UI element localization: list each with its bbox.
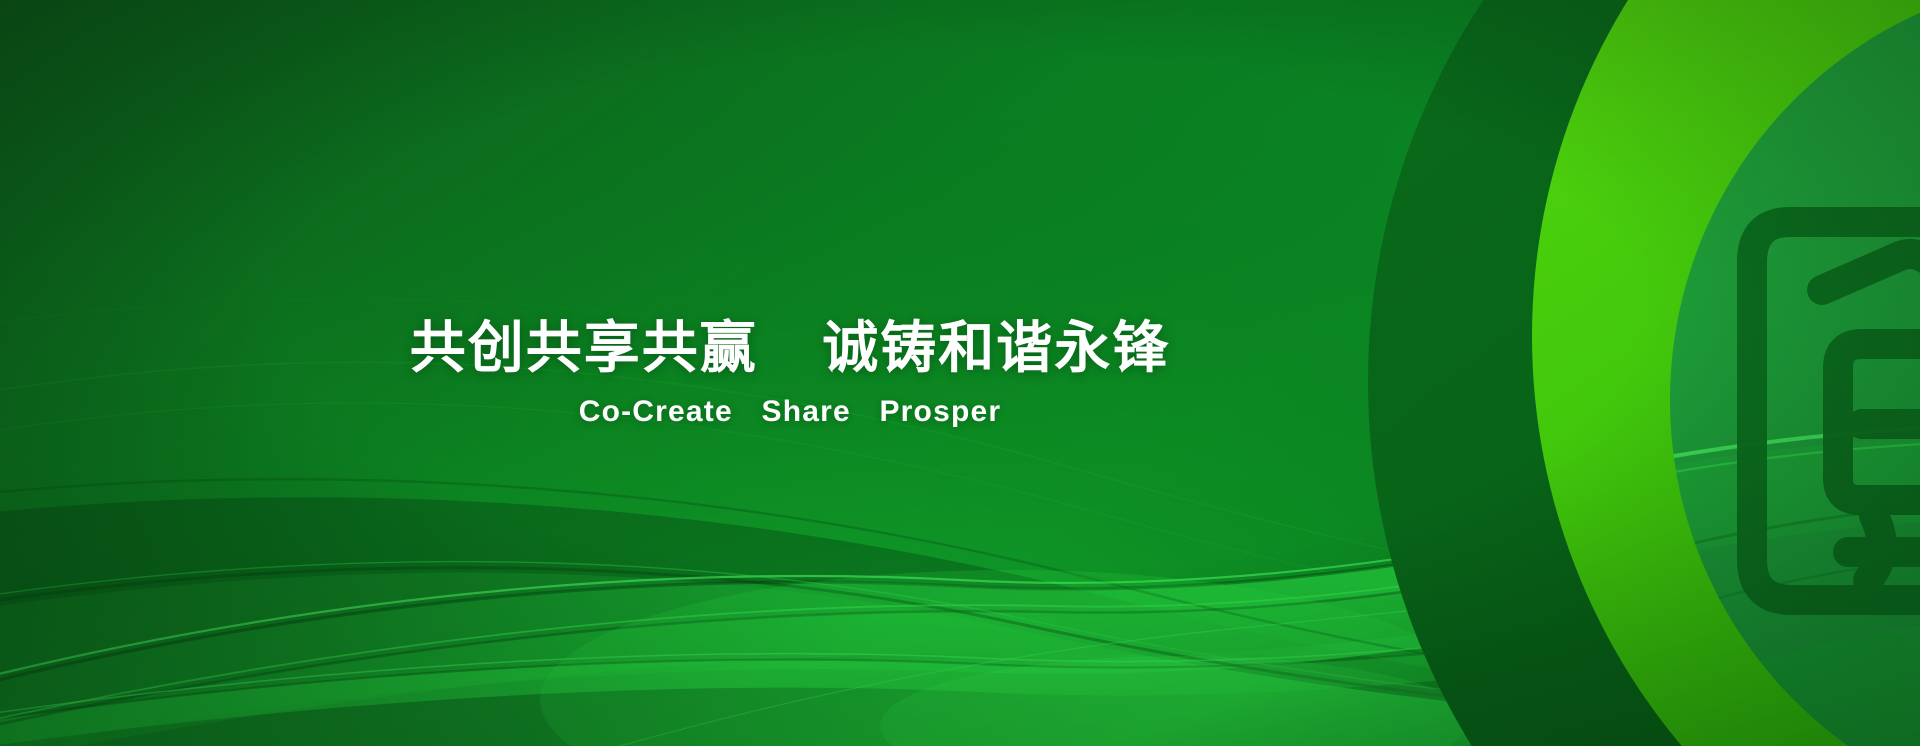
background-vignette [0,0,1920,746]
banner-background-graphic [0,0,1920,746]
banner-root: 共创共享共赢 诚铸和谐永锋 Co-Create Share Prosper [0,0,1920,746]
